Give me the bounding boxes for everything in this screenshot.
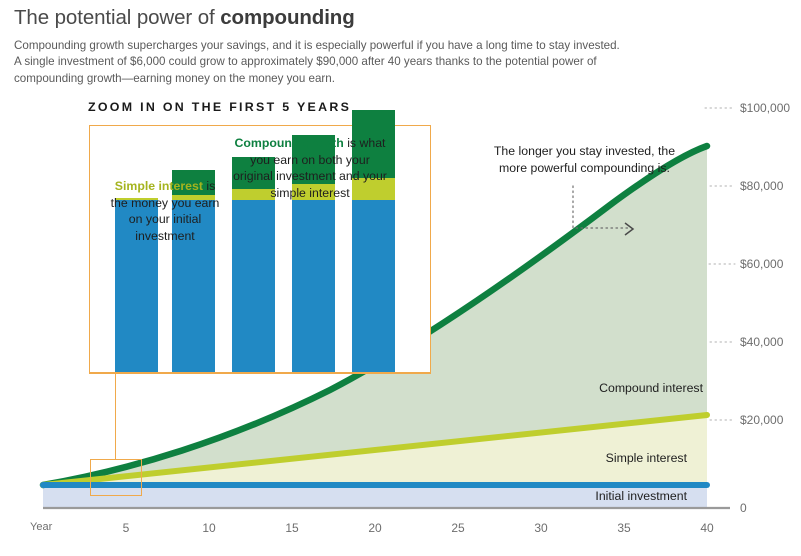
bar-segment-initial <box>352 200 395 373</box>
x-tick-35: 35 <box>617 521 630 535</box>
y-tick-40000: $40,000 <box>740 335 783 349</box>
x-tick-25: 25 <box>451 521 464 535</box>
bar-segment-initial <box>232 200 275 373</box>
callout-simple-keyword: Simple interest <box>115 179 203 193</box>
x-tick-5: 5 <box>123 521 130 535</box>
inset-baseline <box>89 372 431 374</box>
series-label-initial: Initial investment <box>595 489 687 503</box>
x-tick-15: 15 <box>285 521 298 535</box>
x-tick-30: 30 <box>534 521 547 535</box>
inset-title: ZOOM IN ON THE FIRST 5 YEARS <box>88 100 351 114</box>
gridlines <box>705 108 735 420</box>
series-label-compound: Compound interest <box>599 381 703 395</box>
series-label-simple: Simple interest <box>606 451 687 465</box>
y-tick-0: 0 <box>740 501 747 515</box>
zoom-connector-line <box>115 374 116 460</box>
y-tick-100000: $100,000 <box>740 101 790 115</box>
x-axis-caption: Year <box>30 521 52 533</box>
x-tick-20: 20 <box>368 521 381 535</box>
x-tick-10: 10 <box>202 521 215 535</box>
zoom-marker-rect <box>90 459 142 496</box>
y-tick-60000: $60,000 <box>740 257 783 271</box>
right-annotation-note: The longer you stay invested, the more p… <box>492 143 677 177</box>
bar-segment-initial <box>292 200 335 373</box>
callout-compound-keyword: Compound growth <box>235 136 344 150</box>
callout-compound-growth: Compound growth is what you earn on both… <box>232 135 388 201</box>
y-tick-80000: $80,000 <box>740 179 783 193</box>
callout-simple-interest: Simple interest is the money you earn on… <box>105 178 225 244</box>
y-tick-20000: $20,000 <box>740 413 783 427</box>
x-tick-40: 40 <box>700 521 713 535</box>
